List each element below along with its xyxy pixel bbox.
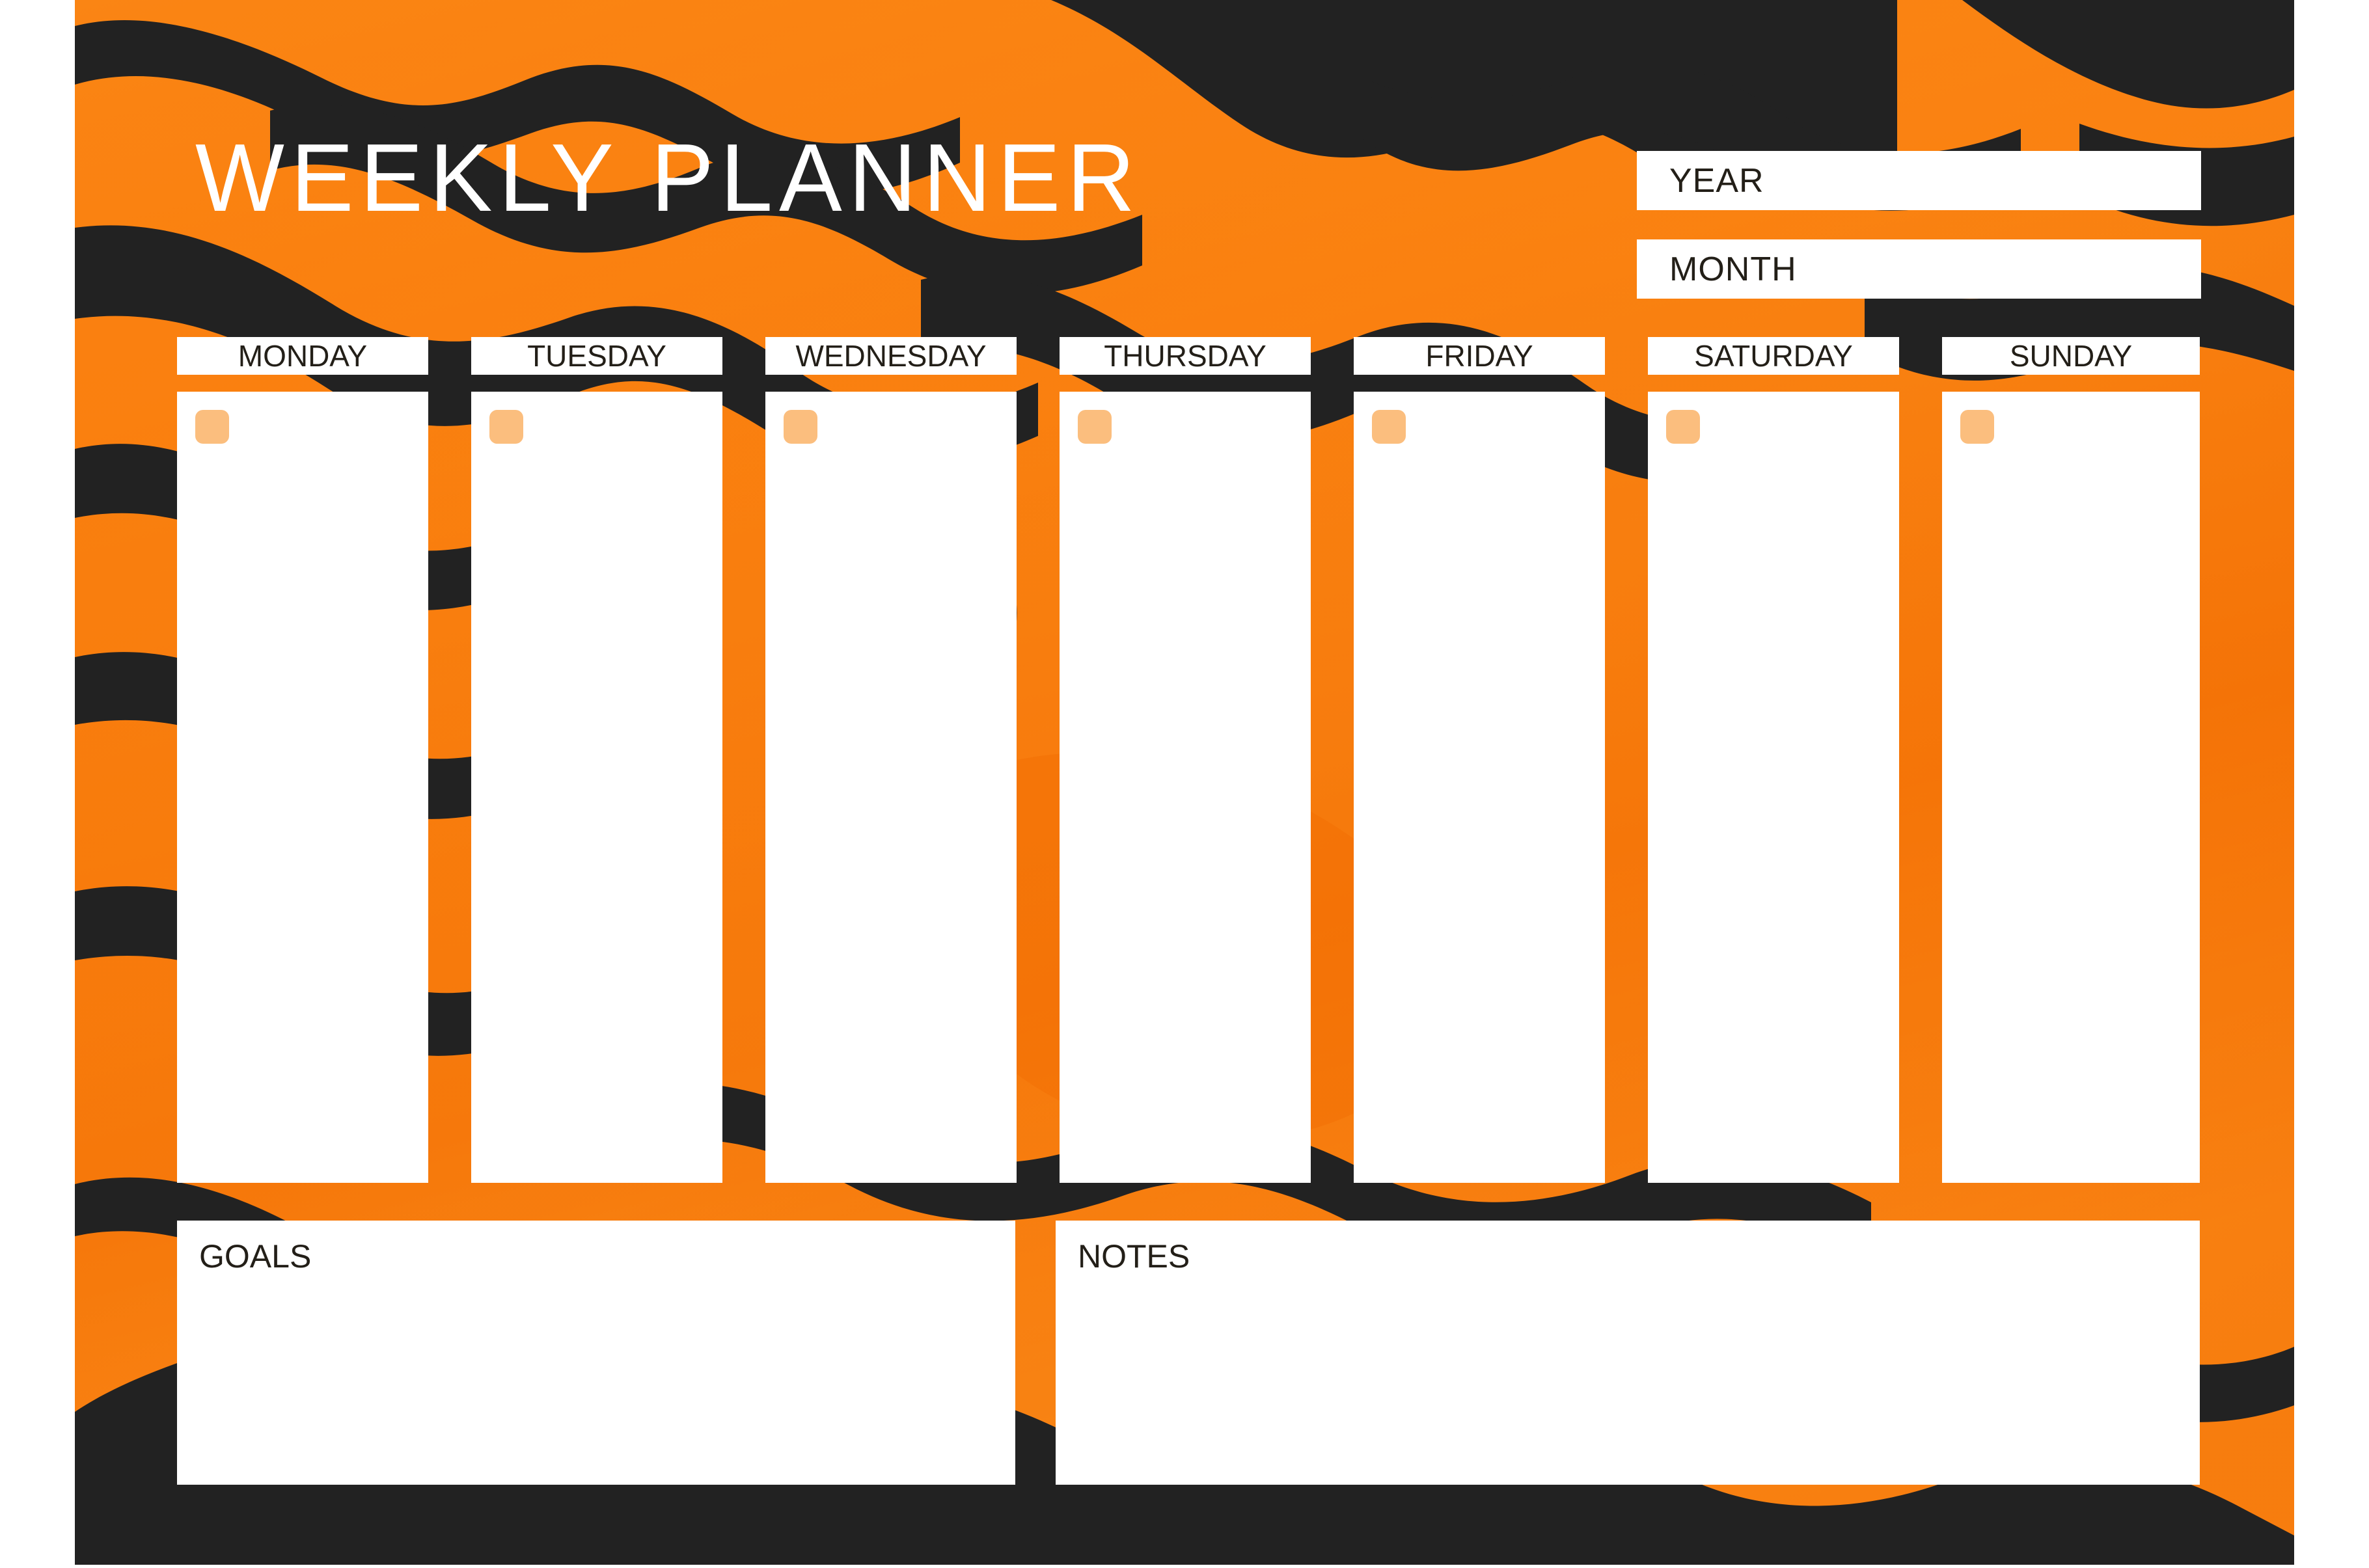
checkbox-icon[interactable] bbox=[489, 410, 523, 444]
day-label: THURSDAY bbox=[1104, 338, 1267, 373]
day-body-thursday[interactable] bbox=[1060, 392, 1311, 1183]
checkbox-icon[interactable] bbox=[1666, 410, 1700, 444]
weekly-planner-page: WEEKLY PLANNER YEAR MONTH MONDAY TUESDAY bbox=[0, 0, 2369, 1568]
month-label: MONTH bbox=[1669, 250, 1797, 289]
checkbox-icon[interactable] bbox=[1372, 410, 1406, 444]
day-body-sunday[interactable] bbox=[1942, 392, 2200, 1183]
notes-label: NOTES bbox=[1078, 1237, 2200, 1275]
goals-panel[interactable]: GOALS bbox=[177, 1221, 1015, 1485]
year-field[interactable]: YEAR bbox=[1637, 151, 2201, 210]
year-label: YEAR bbox=[1669, 161, 1764, 200]
checkbox-icon[interactable] bbox=[1960, 410, 1994, 444]
week-grid: MONDAY TUESDAY WEDNESDAY bbox=[177, 337, 2200, 1183]
month-field[interactable]: MONTH bbox=[1637, 239, 2201, 299]
day-header-tuesday[interactable]: TUESDAY bbox=[471, 337, 722, 375]
goals-label: GOALS bbox=[199, 1237, 1015, 1275]
day-column-tuesday: TUESDAY bbox=[471, 337, 722, 1183]
day-label: TUESDAY bbox=[527, 338, 666, 373]
day-column-thursday: THURSDAY bbox=[1060, 337, 1311, 1183]
day-label: SATURDAY bbox=[1694, 338, 1853, 373]
checkbox-icon[interactable] bbox=[784, 410, 817, 444]
page-title: WEEKLY PLANNER bbox=[195, 130, 1142, 226]
day-header-sunday[interactable]: SUNDAY bbox=[1942, 337, 2200, 375]
day-body-friday[interactable] bbox=[1354, 392, 1605, 1183]
day-column-sunday: SUNDAY bbox=[1942, 337, 2200, 1183]
day-header-thursday[interactable]: THURSDAY bbox=[1060, 337, 1311, 375]
day-label: MONDAY bbox=[238, 338, 368, 373]
day-label: SUNDAY bbox=[2010, 338, 2132, 373]
day-column-friday: FRIDAY bbox=[1354, 337, 1605, 1183]
day-body-monday[interactable] bbox=[177, 392, 428, 1183]
day-label: FRIDAY bbox=[1425, 338, 1533, 373]
day-label: WEDNESDAY bbox=[795, 338, 986, 373]
day-header-monday[interactable]: MONDAY bbox=[177, 337, 428, 375]
day-header-saturday[interactable]: SATURDAY bbox=[1648, 337, 1899, 375]
checkbox-icon[interactable] bbox=[195, 410, 229, 444]
day-header-wednesday[interactable]: WEDNESDAY bbox=[765, 337, 1017, 375]
day-column-wednesday: WEDNESDAY bbox=[765, 337, 1017, 1183]
checkbox-icon[interactable] bbox=[1078, 410, 1112, 444]
day-body-saturday[interactable] bbox=[1648, 392, 1899, 1183]
notes-panel[interactable]: NOTES bbox=[1056, 1221, 2200, 1485]
day-column-saturday: SATURDAY bbox=[1648, 337, 1899, 1183]
day-header-friday[interactable]: FRIDAY bbox=[1354, 337, 1605, 375]
day-body-tuesday[interactable] bbox=[471, 392, 722, 1183]
day-column-monday: MONDAY bbox=[177, 337, 428, 1183]
day-body-wednesday[interactable] bbox=[765, 392, 1017, 1183]
